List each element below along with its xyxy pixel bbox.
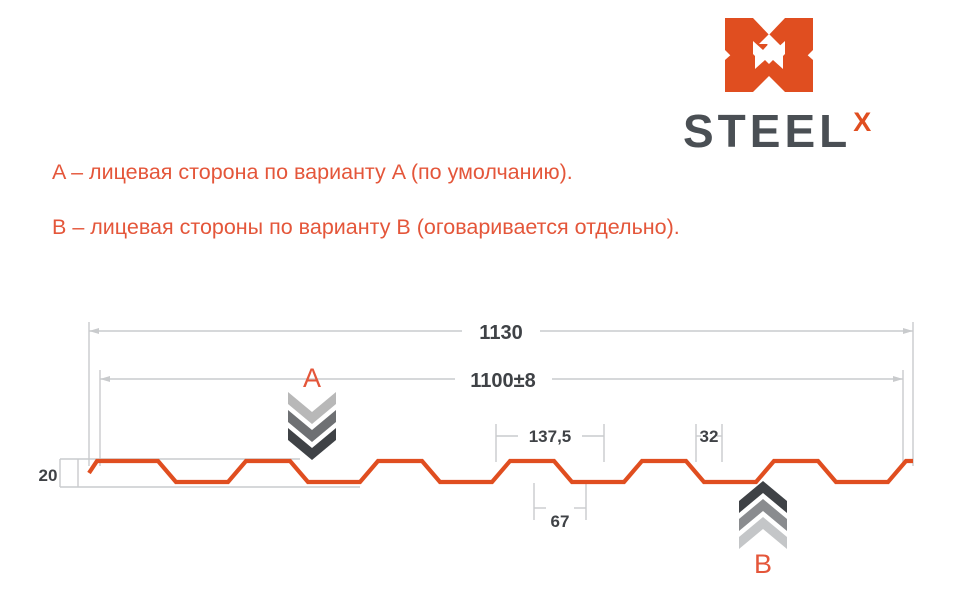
dimension-useful-width-label: 1100±8 — [470, 370, 536, 392]
marker-b-chevrons-up-icon — [739, 481, 787, 549]
profile-technical-drawing: 1130 1100±8 137,5 32 67 20 A B — [0, 0, 970, 597]
sheet-profile-outline — [89, 461, 913, 482]
marker-a-chevrons-down-icon — [288, 392, 336, 460]
marker-a: A — [288, 363, 336, 460]
dimension-valley-width-label: 67 — [551, 512, 570, 531]
dimension-crest-width-label: 32 — [700, 427, 719, 446]
dimension-guide-lines — [60, 322, 913, 520]
dimension-profile-height-label: 20 — [39, 466, 58, 485]
dimension-pitch-label: 137,5 — [529, 427, 572, 446]
marker-b-label: B — [754, 549, 772, 579]
marker-a-label: A — [303, 363, 321, 393]
marker-b: B — [739, 481, 787, 579]
dimension-overall-width-label: 1130 — [479, 322, 522, 344]
